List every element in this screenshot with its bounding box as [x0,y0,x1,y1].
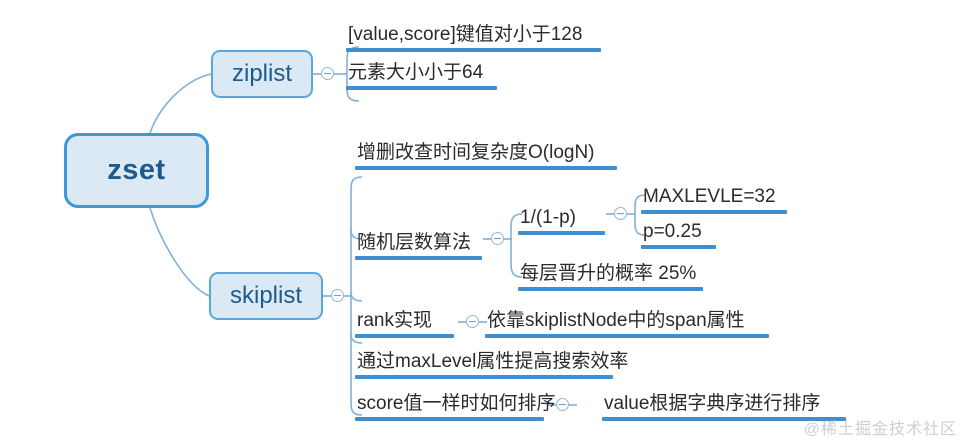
collapse-minus-icon-random-level[interactable] [491,232,504,245]
leaf-skiplist-complexity-label: 增删改查时间复杂度O(logN) [355,143,597,166]
node-zset[interactable]: zset [64,133,209,208]
node-ziplist[interactable]: ziplist [211,50,313,98]
leaf-one-over-one-minus-p[interactable]: 1/(1-p) [518,208,605,235]
leaf-skiplist-complexity[interactable]: 增删改查时间复杂度O(logN) [355,143,617,170]
collapse-minus-icon-rank[interactable] [466,315,479,328]
leaf-p-value-label: p=0.25 [641,222,704,245]
leaf-score-tie-order[interactable]: score值一样时如何排序 [355,394,544,421]
leaf-ziplist-elem-size-label: 元素大小小于64 [346,63,485,86]
watermark-text: @稀土掘金技术社区 [804,415,957,439]
node-zset-label: zset [107,154,165,187]
collapse-minus-icon-score-order[interactable] [556,398,569,411]
leaf-score-tie-order-label: score值一样时如何排序 [355,394,557,417]
mindmap-canvas: zset ziplist skiplist [value,score]键值对小于… [0,0,969,445]
leaf-ziplist-elem-size[interactable]: 元素大小小于64 [346,63,497,90]
leaf-level-promotion-probability[interactable]: 每层晋升的概率 25% [518,264,703,291]
leaf-rank-span-attribute[interactable]: 依靠skiplistNode中的span属性 [485,311,769,338]
node-skiplist-label: skiplist [230,282,302,310]
leaf-random-level-algorithm-label: 随机层数算法 [355,233,473,256]
leaf-one-over-one-minus-p-label: 1/(1-p) [518,208,578,231]
collapse-minus-icon-probability[interactable] [614,207,627,220]
leaf-maxlevel-efficiency[interactable]: 通过maxLevel属性提高搜索效率 [355,352,613,379]
leaf-maxlevel-constant[interactable]: MAXLEVLE=32 [641,187,787,214]
leaf-ziplist-kv-limit[interactable]: [value,score]键值对小于128 [346,25,601,52]
node-skiplist[interactable]: skiplist [209,272,323,320]
leaf-p-value[interactable]: p=0.25 [641,222,716,249]
node-ziplist-label: ziplist [232,60,292,88]
collapse-minus-icon-ziplist[interactable] [321,67,334,80]
leaf-rank-implementation-label: rank实现 [355,311,434,334]
leaf-level-promotion-probability-label: 每层晋升的概率 25% [518,264,698,287]
leaf-maxlevel-constant-label: MAXLEVLE=32 [641,187,778,210]
collapse-minus-icon-skiplist[interactable] [331,289,344,302]
leaf-rank-span-attribute-label: 依靠skiplistNode中的span属性 [485,311,747,334]
leaf-rank-implementation[interactable]: rank实现 [355,311,454,338]
leaf-maxlevel-efficiency-label: 通过maxLevel属性提高搜索效率 [355,352,630,375]
leaf-value-lexicographic-order-label: value根据字典序进行排序 [602,394,822,417]
leaf-random-level-algorithm[interactable]: 随机层数算法 [355,233,482,260]
leaf-ziplist-kv-limit-label: [value,score]键值对小于128 [346,25,584,48]
